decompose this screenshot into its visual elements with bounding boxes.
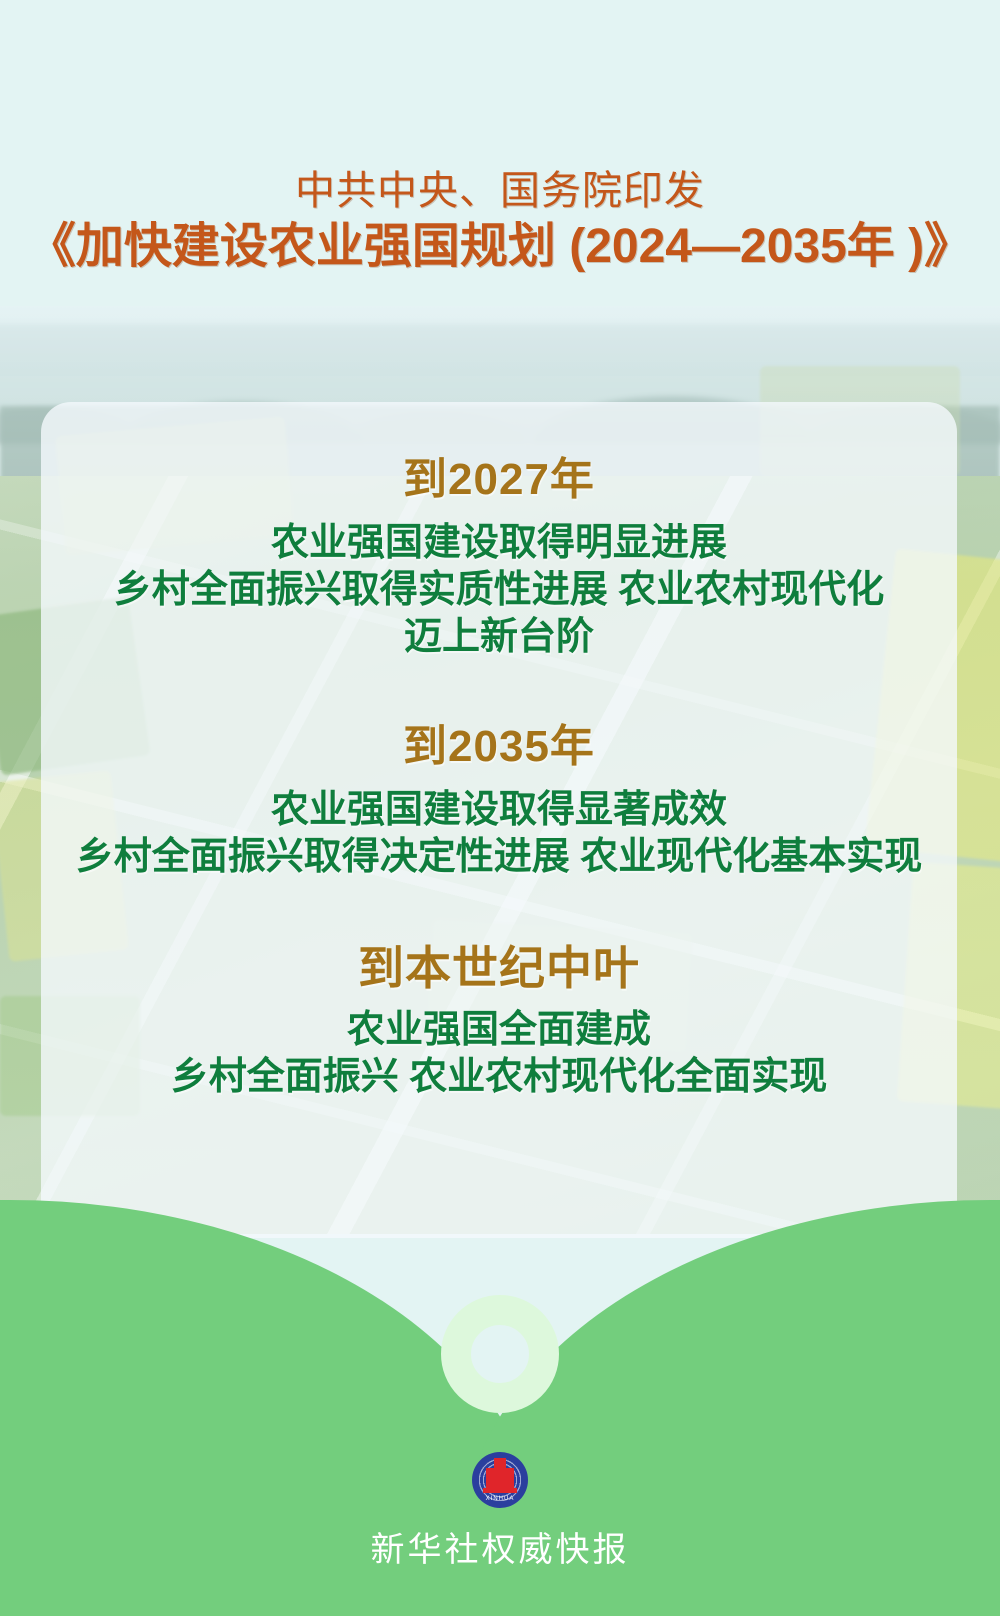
milestone-midcentury: 到本世纪中叶 农业强国全面建成 乡村全面振兴 农业农村现代化全面实现	[41, 881, 957, 1101]
milestone-2027: 到2027年 农业强国建设取得明显进展 乡村全面振兴取得实质性进展 农业农村现代…	[41, 402, 957, 661]
footer-brand-text: 新华社权威快报	[0, 1522, 1000, 1571]
milestone-line: 迈上新台阶	[41, 614, 957, 661]
milestone-heading: 到2035年	[41, 719, 957, 775]
milestone-line: 农业强国全面建成	[41, 1007, 957, 1054]
milestone-2035: 到2035年 农业强国建设取得显著成效 乡村全面振兴取得决定性进展 农业现代化基…	[41, 661, 957, 881]
logo-wordmark: XINHUA	[472, 1496, 528, 1502]
milestone-body: 农业强国建设取得明显进展 乡村全面振兴取得实质性进展 农业农村现代化 迈上新台阶	[41, 508, 957, 661]
logo-gate-tower	[486, 1468, 514, 1492]
milestone-line: 乡村全面振兴取得实质性进展 农业农村现代化	[41, 567, 957, 614]
title-line-1: 中共中央、国务院印发	[0, 166, 1000, 216]
milestone-line: 乡村全面振兴取得决定性进展 农业现代化基本实现	[41, 834, 957, 881]
milestone-body: 农业强国全面建成 乡村全面振兴 农业农村现代化全面实现	[41, 997, 957, 1101]
poster-root: 中共中央、国务院印发 《加快建设农业强国规划 (2024—2035年 )》 到2…	[0, 0, 1000, 1616]
milestone-body: 农业强国建设取得显著成效 乡村全面振兴取得决定性进展 农业现代化基本实现	[41, 775, 957, 881]
milestone-heading: 到2027年	[41, 452, 957, 508]
milestone-line: 农业强国建设取得显著成效	[41, 787, 957, 834]
milestone-line: 乡村全面振兴 农业农村现代化全面实现	[41, 1054, 957, 1101]
xinhua-logo-icon: XINHUA	[472, 1452, 528, 1508]
milestone-heading: 到本世纪中叶	[41, 939, 957, 997]
milestone-line: 农业强国建设取得明显进展	[41, 520, 957, 567]
ring-decoration-icon	[441, 1295, 559, 1413]
footer: XINHUA 新华社权威快报	[0, 1452, 1000, 1571]
title-line-2: 《加快建设农业强国规划 (2024—2035年 )》	[0, 216, 1000, 278]
page-title: 中共中央、国务院印发 《加快建设农业强国规划 (2024—2035年 )》	[0, 166, 1000, 278]
milestones-list: 到2027年 农业强国建设取得明显进展 乡村全面振兴取得实质性进展 农业农村现代…	[41, 402, 957, 1238]
